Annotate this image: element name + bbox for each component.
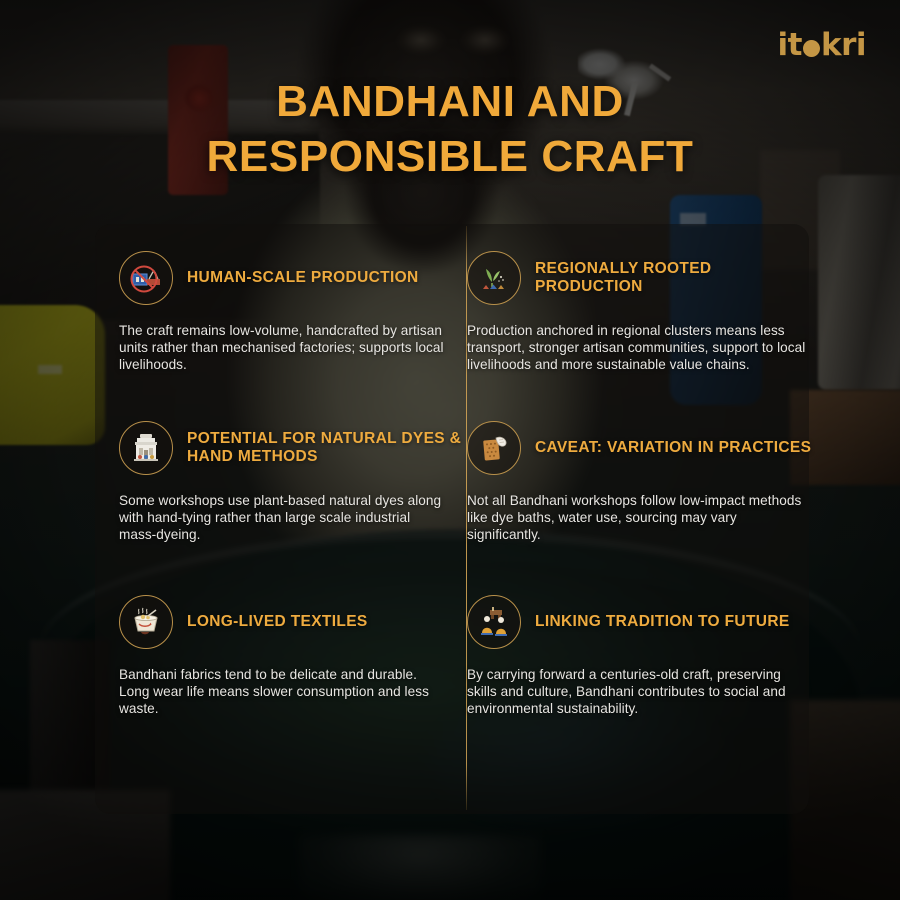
card-title: POTENTIAL FOR NATURAL DYES & HAND METHOD…: [187, 430, 464, 467]
card-header: LINKING TRADITION TO FUTURE: [467, 594, 812, 650]
card-linking-tradition-to-future: LINKING TRADITION TO FUTURE By carrying …: [467, 594, 812, 717]
card-body: Bandhani fabrics tend to be delicate and…: [119, 666, 451, 717]
card-body: By carrying forward a centuries-old craf…: [467, 666, 807, 717]
card-title: HUMAN-SCALE PRODUCTION: [187, 269, 419, 287]
card-body: The craft remains low-volume, handcrafte…: [119, 322, 451, 373]
card-natural-dyes-hand-methods: POTENTIAL FOR NATURAL DYES & HAND METHOD…: [119, 420, 464, 543]
page-title: BANDHANI AND RESPONSIBLE CRAFT: [0, 74, 900, 185]
hand-holding-fabric-icon: [467, 421, 521, 475]
no-factory-icon: [119, 251, 173, 305]
card-header: POTENTIAL FOR NATURAL DYES & HAND METHOD…: [119, 420, 464, 476]
card-body: Production anchored in regional clusters…: [467, 322, 807, 373]
page-title-line-2: RESPONSIBLE CRAFT: [110, 129, 790, 184]
card-human-scale-production: HUMAN-SCALE PRODUCTION The craft remains…: [119, 250, 464, 373]
card-header: HUMAN-SCALE PRODUCTION: [119, 250, 464, 306]
infographic-canvas: itkri BANDHANI AND RESPONSIBLE CRAFT: [0, 0, 900, 900]
steaming-dye-pot-icon: [119, 595, 173, 649]
card-title: CAVEAT: VARIATION IN PRACTICES: [535, 439, 811, 457]
sprout-mountains-icon: [467, 251, 521, 305]
card-title: REGIONALLY ROOTED PRODUCTION: [535, 260, 812, 297]
card-title: LINKING TRADITION TO FUTURE: [535, 613, 790, 631]
card-regionally-rooted-production: REGIONALLY ROOTED PRODUCTION Production …: [467, 250, 812, 373]
logo-text-it: it: [778, 27, 802, 63]
logo-o-dot-icon: [803, 40, 820, 57]
card-header: REGIONALLY ROOTED PRODUCTION: [467, 250, 812, 306]
card-body: Some workshops use plant-based natural d…: [119, 492, 451, 543]
card-header: LONG-LIVED TEXTILES: [119, 594, 464, 650]
card-body: Not all Bandhani workshops follow low-im…: [467, 492, 807, 543]
logo-text-kri: kri: [821, 27, 866, 63]
card-header: CAVEAT: VARIATION IN PRACTICES: [467, 420, 812, 476]
itokri-logo[interactable]: itkri: [778, 30, 866, 61]
card-title: LONG-LIVED TEXTILES: [187, 613, 368, 631]
cards-grid: HUMAN-SCALE PRODUCTION The craft remains…: [95, 224, 809, 814]
page-title-line-1: BANDHANI AND: [110, 74, 790, 129]
two-artisans-icon: [467, 595, 521, 649]
card-long-lived-textiles: LONG-LIVED TEXTILES Bandhani fabrics ten…: [119, 594, 464, 717]
workshop-building-icon: [119, 421, 173, 475]
card-caveat-variation-in-practices: CAVEAT: VARIATION IN PRACTICES Not all B…: [467, 420, 812, 543]
